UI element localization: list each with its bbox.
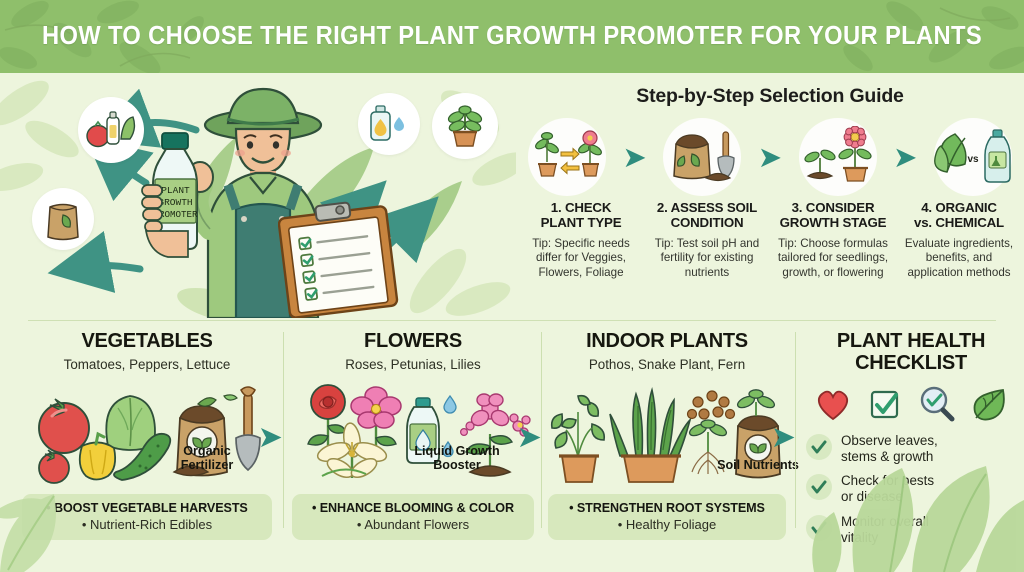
vegetables-benefit-pill: • BOOST VEGETABLE HARVESTS • Nutrient-Ri… <box>22 494 272 540</box>
vs-label: vs <box>967 154 979 165</box>
indoor-plants-title: INDOOR PLANTS <box>548 330 786 353</box>
row-arrow-3: ➤ <box>772 424 795 451</box>
step-icons-row: ➤ ➤ <box>524 117 1016 197</box>
step-3-icon-group <box>795 117 881 197</box>
indoor-plants-subtitle: Pothos, Snake Plant, Fern <box>548 357 786 372</box>
vegetables-subtitle: Tomatoes, Peppers, Lettuce <box>22 357 272 372</box>
category-flowers: FLOWERS Roses, Petunias, Lilies <box>292 330 534 540</box>
flowers-illustration: Liquid Growth Booster <box>292 380 534 488</box>
step-column-4: 4. ORGANIC vs. CHEMICAL Evaluate ingredi… <box>898 200 1020 280</box>
step-arrow-2: ➤ <box>759 144 781 170</box>
step-4-title-line-2: vs. CHEMICAL <box>898 215 1020 230</box>
flowers-title: FLOWERS <box>292 330 534 353</box>
indoor-plants-benefit-main: • STRENGTHEN ROOT SYSTEMS <box>556 501 778 515</box>
plant-health-checklist: PLANT HEALTH CHECKLIST <box>806 330 1016 555</box>
checklist-item-3-line-2: vitality <box>841 530 878 545</box>
bottle-label-line-2: GROWTH <box>158 197 192 208</box>
vegetables-art-label-line-1: Organic <box>147 444 267 458</box>
step-4-icon-group: vs <box>930 117 1016 197</box>
step-guide-panel: Step-by-Step Selection Guide <box>516 73 1024 318</box>
soil-bag-trowel-icon <box>664 126 740 188</box>
step-3-title: 3. CONSIDER GROWTH STAGE <box>772 200 894 231</box>
heart-icon <box>814 386 852 422</box>
check-mark-icon <box>806 434 832 460</box>
section-divider <box>28 320 996 321</box>
checklist-title-line-1: PLANT HEALTH <box>806 330 1016 352</box>
step-3-title-line-1: 3. CONSIDER <box>772 200 894 215</box>
checklist-title: PLANT HEALTH CHECKLIST <box>806 330 1016 375</box>
step-4-title-line-1: 4. ORGANIC <box>898 200 1020 215</box>
check-mark-icon <box>806 515 832 541</box>
step-guide-title: Step-by-Step Selection Guide <box>516 85 1024 108</box>
checklist-item-2-line-2: or disease <box>841 489 903 504</box>
step-1-title-line-1: 1. CHECK <box>520 200 642 215</box>
flowers-art-label: Liquid Growth Booster <box>392 444 522 472</box>
checklist-item-1-line-2: stems & growth <box>841 449 933 464</box>
vegetables-benefit-sub: • Nutrient-Rich Edibles <box>30 517 264 532</box>
step-1-tip: Tip: Specific needs differ for Veggies, … <box>520 237 642 280</box>
step-1-title: 1. CHECK PLANT TYPE <box>520 200 642 231</box>
checklist-item-2-line-1: Check for pests <box>841 473 934 488</box>
checklist-title-line-2: CHECKLIST <box>806 352 1016 374</box>
checklist-item-1-text: Observe leaves, stems & growth <box>841 433 938 465</box>
leaf-icon <box>972 386 1008 422</box>
check-mark-icon <box>806 474 832 500</box>
step-column-3: 3. CONSIDER GROWTH STAGE Tip: Choose for… <box>772 200 894 280</box>
category-vegetables: VEGETABLES Tomatoes, Peppers, Lettuce <box>22 330 272 540</box>
checklist-clipboard <box>278 198 408 318</box>
divider-vegetables-flowers <box>283 332 284 528</box>
step-2-title-line-2: CONDITION <box>646 215 768 230</box>
checklist-item-1-line-1: Observe leaves, <box>841 433 938 448</box>
vegetables-art-label: Organic Fertilizer <box>147 444 267 472</box>
checklist-items: Observe leaves, stems & growth Check for… <box>806 433 1016 546</box>
flowers-art-label-line-1: Liquid Growth <box>392 444 522 458</box>
step-4-title: 4. ORGANIC vs. CHEMICAL <box>898 200 1020 231</box>
checklist-item-3-line-1: Monitor overall <box>841 514 929 529</box>
flowers-subtitle: Roses, Petunias, Lilies <box>292 357 534 372</box>
indoor-plants-benefit-pill: • STRENGTHEN ROOT SYSTEMS • Healthy Foli… <box>548 494 786 540</box>
step-1-title-line-2: PLANT TYPE <box>520 215 642 230</box>
hero-illustration: PLANT GROWTH PROMOTER <box>0 73 516 318</box>
flowers-art-label-line-2: Booster <box>392 458 522 472</box>
indoor-plants-benefit-sub: • Healthy Foliage <box>556 517 778 532</box>
step-2-title: 2. ASSESS SOIL CONDITION <box>646 200 768 231</box>
plant-type-icon <box>529 126 605 188</box>
row-arrow-2: ➤ <box>518 424 541 451</box>
step-arrow-3: ➤ <box>894 144 916 170</box>
checklist-item-2-text: Check for pests or disease <box>841 473 934 505</box>
divider-flowers-indoor <box>541 332 542 528</box>
step-2-tip: Tip: Test soil pH and fertility for exis… <box>646 237 768 280</box>
promoter-bottle: PLANT GROWTH PROMOTER <box>130 131 226 261</box>
flowers-benefit-sub: • Abundant Flowers <box>300 517 526 532</box>
step-4-tip: Evaluate ingredients, benefits, and appl… <box>898 237 1020 280</box>
organic-vs-chemical-icon: vs <box>933 126 1013 188</box>
indoor-plants-illustration: Soil Nutrients <box>548 380 786 488</box>
potted-plant-icon <box>432 93 498 159</box>
header-banner: HOW TO CHOOSE THE RIGHT PLANT GROWTH PRO… <box>0 0 1024 73</box>
checklist-item-1: Observe leaves, stems & growth <box>806 433 1016 465</box>
step-3-tip: Tip: Choose formulas tailored for seedli… <box>772 237 894 280</box>
flowers-benefit-main: • ENHANCE BLOOMING & COLOR <box>300 501 526 515</box>
divider-indoor-checklist <box>795 332 796 528</box>
checklist-icon-row <box>814 385 1008 423</box>
step-3-title-line-2: GROWTH STAGE <box>772 215 894 230</box>
step-2-title-line-1: 2. ASSESS SOIL <box>646 200 768 215</box>
step-labels-row: 1. CHECK PLANT TYPE Tip: Specific needs … <box>520 200 1020 280</box>
vegetables-illustration: Organic Fertilizer <box>22 380 272 488</box>
step-column-2: 2. ASSESS SOIL CONDITION Tip: Test soil … <box>646 200 768 280</box>
step-arrow-1: ➤ <box>624 144 646 170</box>
bottle-label-line-1: PLANT <box>161 185 190 196</box>
indoor-plants-art-label-line-1: Soil Nutrients <box>698 458 818 472</box>
checklist-item-3: Monitor overall vitality <box>806 514 1016 546</box>
checklist-item-2: Check for pests or disease <box>806 473 1016 505</box>
flowers-benefit-pill: • ENHANCE BLOOMING & COLOR • Abundant Fl… <box>292 494 534 540</box>
vegetables-art-label-line-2: Fertilizer <box>147 458 267 472</box>
step-1-icon-group <box>524 117 610 197</box>
vegetables-title: VEGETABLES <box>22 330 272 353</box>
checklist-item-3-text: Monitor overall vitality <box>841 514 929 546</box>
page-title: HOW TO CHOOSE THE RIGHT PLANT GROWTH PRO… <box>36 0 988 73</box>
vegetables-benefit-main: • BOOST VEGETABLE HARVESTS <box>30 501 264 515</box>
step-2-icon-group <box>659 117 745 197</box>
row-arrow-1: ➤ <box>259 424 282 451</box>
category-indoor-plants: INDOOR PLANTS Pothos, Snake Plant, Fern <box>548 330 786 540</box>
infographic-root: HOW TO CHOOSE THE RIGHT PLANT GROWTH PRO… <box>0 0 1024 572</box>
indoor-plants-art-label: Soil Nutrients <box>698 458 818 472</box>
step-column-1: 1. CHECK PLANT TYPE Tip: Specific needs … <box>520 200 642 280</box>
fertilizer-bag-icon <box>32 188 94 250</box>
checkbox-icon <box>868 387 902 421</box>
growth-stage-icon <box>800 126 876 188</box>
magnifier-icon <box>918 385 956 423</box>
